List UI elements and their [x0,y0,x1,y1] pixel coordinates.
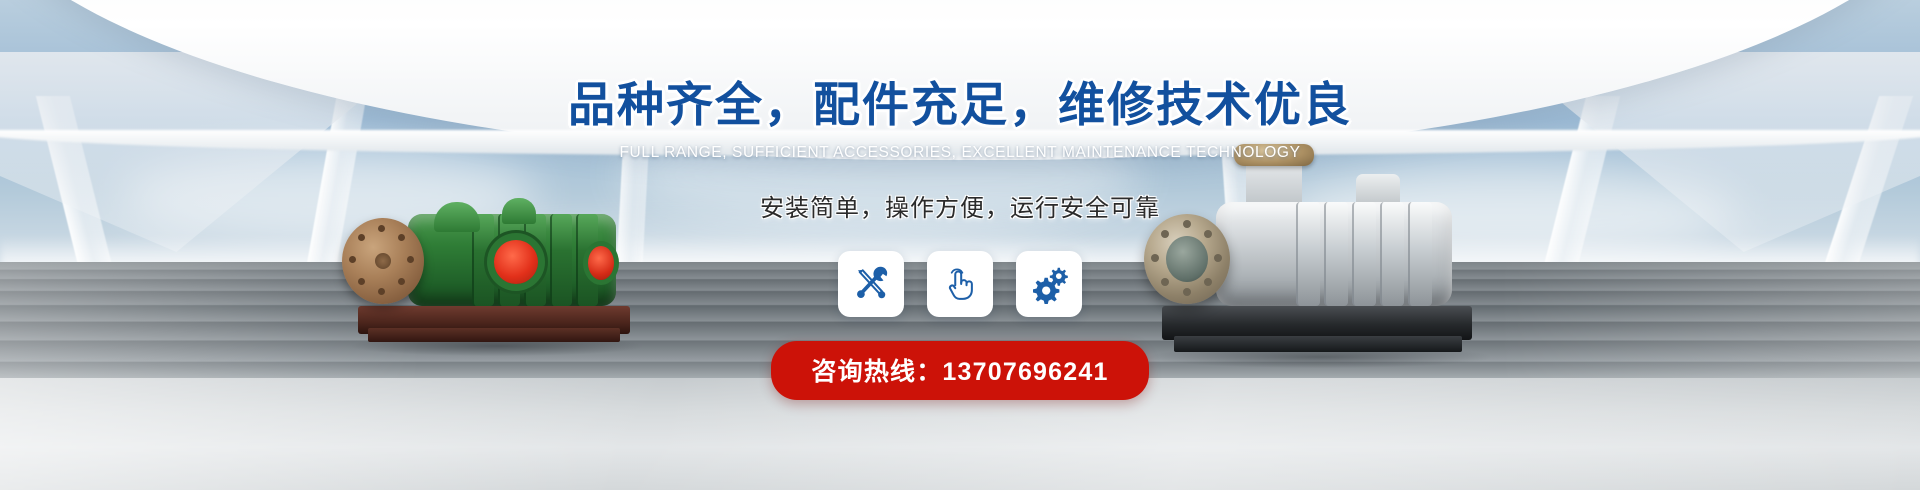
feature-tile-tools[interactable] [838,251,904,317]
hotline-badge[interactable]: 咨询热线：13707696241 [771,341,1148,400]
banner-content: 品种齐全，配件充足，维修技术优良 FULL RANGE, SUFFICIENT … [0,0,1920,490]
tools-icon [852,265,890,303]
feature-icon-row [838,251,1082,317]
hand-click-icon [941,265,979,303]
banner-subtitle-chinese: 安装简单，操作方便，运行安全可靠 [760,188,1160,223]
feature-tile-hand-click[interactable] [927,251,993,317]
banner-headline: 品种齐全，配件充足，维修技术优良 [568,66,1352,135]
banner-subtitle-english: FULL RANGE, SUFFICIENT ACCESSORIES, EXCE… [619,144,1300,162]
gears-icon [1029,264,1069,304]
feature-tile-gears[interactable] [1016,251,1082,317]
promo-banner: 品种齐全，配件充足，维修技术优良 FULL RANGE, SUFFICIENT … [0,0,1920,490]
